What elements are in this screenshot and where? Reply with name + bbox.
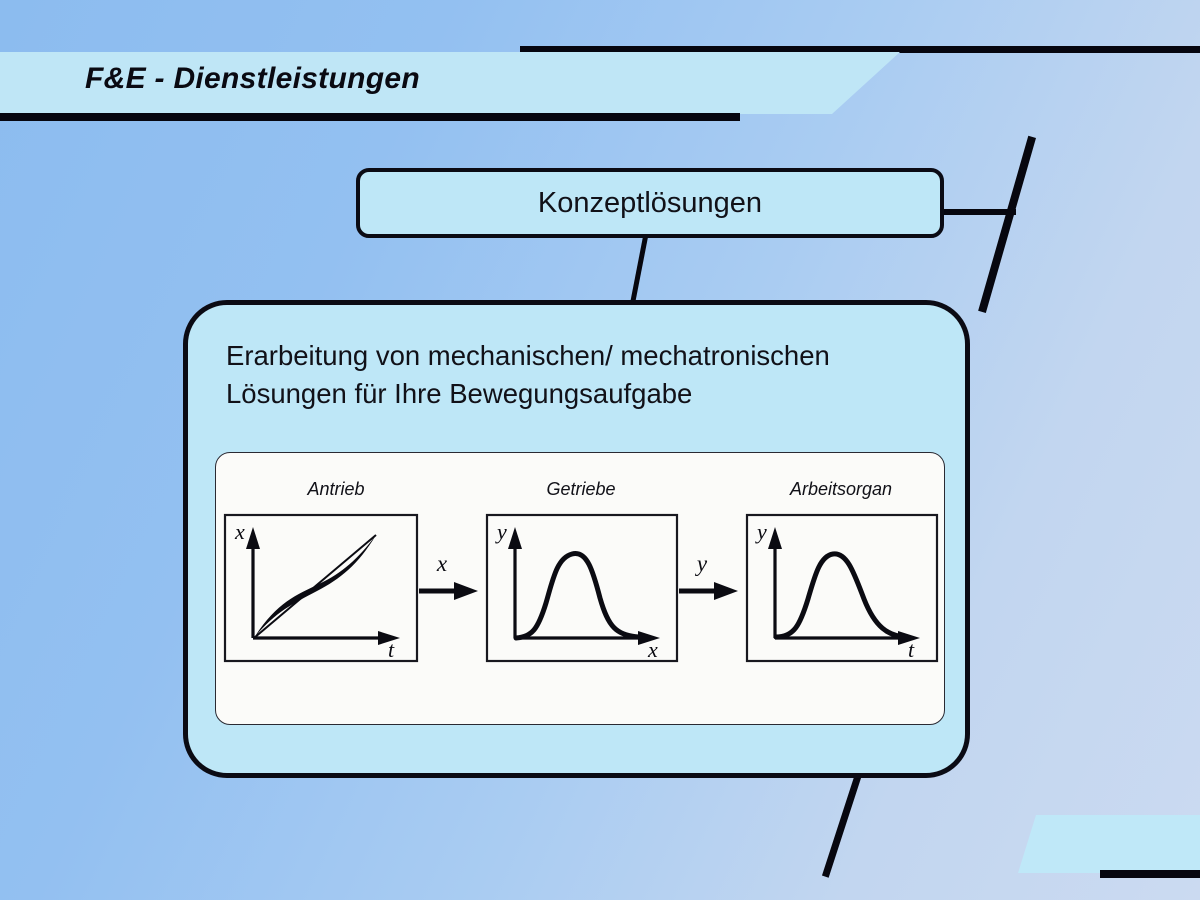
- konzept-label: Konzeptlösungen: [538, 187, 762, 220]
- main-description-line-2: Lösungen für Ihre Bewegungsaufgabe: [226, 375, 956, 413]
- flow-diagram-svg: Antrieb x t x: [216, 453, 946, 726]
- diagonal-accent-bottom: [822, 773, 862, 878]
- footer-band: [1018, 815, 1200, 873]
- flow-diagram-panel: Antrieb x t x: [215, 452, 945, 725]
- footer-rule: [1100, 870, 1200, 878]
- curve-arbeitsorgan-bell: [776, 554, 906, 637]
- page-title: F&E - Dienstleistungen: [85, 62, 420, 96]
- curve-getriebe-hump: [516, 554, 640, 638]
- konzept-box[interactable]: Konzeptlösungen: [356, 168, 944, 238]
- stage-caption-antrieb: Antrieb: [306, 479, 364, 499]
- diagonal-accent-top-right: [978, 136, 1036, 313]
- axes-getriebe: [508, 527, 660, 645]
- connector-konzept-to-main: [630, 236, 648, 302]
- axis-label-antrieb-x: t: [388, 637, 395, 662]
- connector-arrow-2: [679, 582, 738, 600]
- axis-label-arbeitsorgan-x: t: [908, 637, 915, 662]
- connector-label-2: y: [695, 551, 708, 576]
- stage-caption-getriebe: Getriebe: [546, 479, 615, 499]
- curve-antrieb-chord: [254, 535, 376, 638]
- connector-arrow-1: [419, 582, 478, 600]
- axis-label-getriebe-y: y: [495, 519, 507, 544]
- axes-arbeitsorgan: [768, 527, 920, 645]
- header-rule-top: [520, 46, 1200, 53]
- main-content-box: Erarbeitung von mechanischen/ mechatroni…: [183, 300, 970, 778]
- connector-label-1: x: [436, 551, 448, 576]
- axis-label-antrieb-y: x: [234, 519, 245, 544]
- main-description-line-1: Erarbeitung von mechanischen/ mechatroni…: [226, 337, 956, 375]
- main-description: Erarbeitung von mechanischen/ mechatroni…: [226, 337, 956, 413]
- axis-label-arbeitsorgan-y: y: [755, 519, 767, 544]
- stage-caption-arbeitsorgan: Arbeitsorgan: [789, 479, 892, 499]
- axis-label-getriebe-x: x: [647, 637, 658, 662]
- slide-canvas: F&E - Dienstleistungen Konzeptlösungen E…: [0, 0, 1200, 900]
- connector-konzept-to-right: [944, 209, 1016, 215]
- header-rule-bottom: [0, 113, 740, 121]
